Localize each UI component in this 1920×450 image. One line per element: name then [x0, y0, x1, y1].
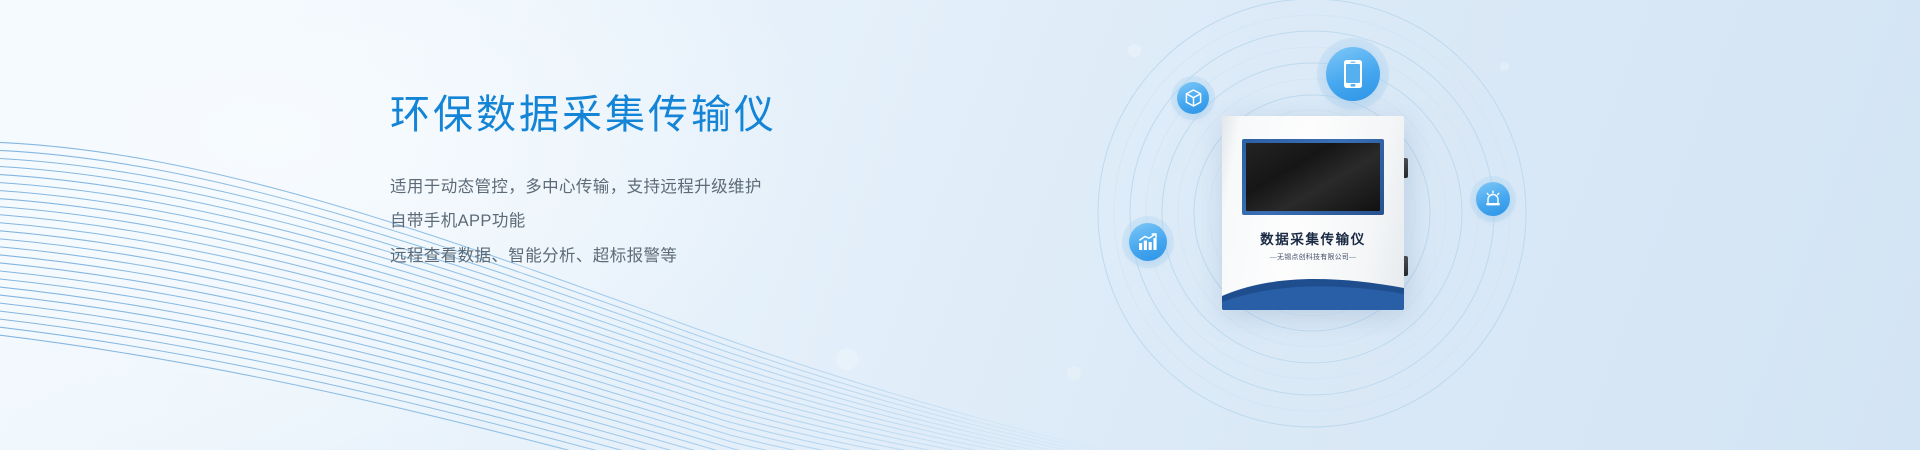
device-label-sub: —无锡点创科技有限公司—: [1222, 252, 1404, 262]
bokeh-dot: [1067, 366, 1081, 380]
device-wave-graphic: [1222, 268, 1404, 310]
subtitle-line-3: 远程查看数据、智能分析、超标报警等: [390, 239, 990, 273]
banner-text-block: 环保数据采集传输仪 适用于动态管控，多中心传输，支持远程升级维护 自带手机APP…: [390, 92, 990, 273]
mobile-phone-icon[interactable]: [1326, 47, 1380, 101]
device-screen-bezel: [1242, 139, 1384, 215]
subtitle-line-1: 适用于动态管控，多中心传输，支持远程升级维护: [390, 170, 990, 204]
subtitle-list: 适用于动态管控，多中心传输，支持远程升级维护 自带手机APP功能 远程查看数据、…: [390, 170, 990, 273]
device-screen: [1246, 143, 1380, 211]
device-label: 数据采集传输仪 —无锡点创科技有限公司—: [1222, 228, 1404, 262]
device-body: 数据采集传输仪 —无锡点创科技有限公司—: [1222, 116, 1404, 310]
bar-chart-growth-icon[interactable]: [1129, 223, 1167, 261]
page-title: 环保数据采集传输仪: [390, 92, 990, 138]
subtitle-line-2: 自带手机APP功能: [390, 204, 990, 238]
bokeh-dot: [836, 348, 858, 370]
data-acquisition-device: 数据采集传输仪 —无锡点创科技有限公司—: [1222, 116, 1404, 310]
alarm-siren-icon[interactable]: [1476, 182, 1510, 216]
device-label-main: 数据采集传输仪: [1222, 228, 1404, 248]
cube-box-icon[interactable]: [1177, 82, 1209, 114]
product-banner: 环保数据采集传输仪 适用于动态管控，多中心传输，支持远程升级维护 自带手机APP…: [0, 0, 1920, 450]
